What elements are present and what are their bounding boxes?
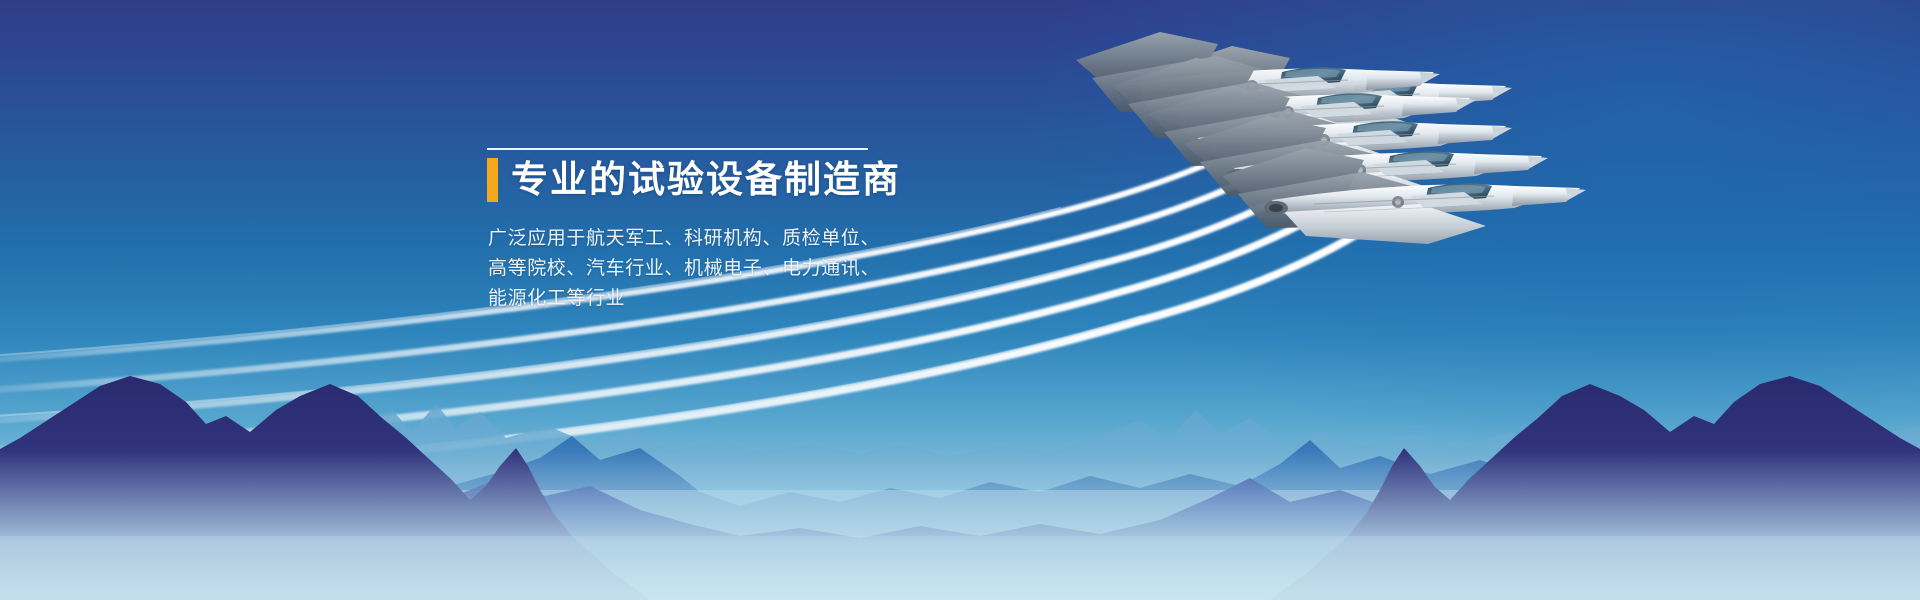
hero-banner: 专业的试验设备制造商 广泛应用于航天军工、科研机构、质检单位、 高等院校、汽车行…	[0, 0, 1920, 600]
subtitle-line-1: 广泛应用于航天军工、科研机构、质检单位、	[488, 223, 917, 253]
headline-row: 专业的试验设备制造商	[487, 157, 917, 203]
subtitle-block: 广泛应用于航天军工、科研机构、质检单位、 高等院校、汽车行业、机械电子、电力通讯…	[488, 223, 917, 313]
subtitle-line-3: 能源化工等行业	[488, 283, 917, 313]
hero-text-block: 专业的试验设备制造商 广泛应用于航天军工、科研机构、质检单位、 高等院校、汽车行…	[487, 148, 917, 313]
page-title: 专业的试验设备制造商	[511, 158, 901, 202]
subtitle-line-2: 高等院校、汽车行业、机械电子、电力通讯、	[488, 253, 917, 283]
fighter-jet-formation	[1140, 40, 1840, 310]
mountain-range-silhouettes	[0, 340, 1920, 600]
divider-rule	[487, 148, 868, 150]
accent-bar	[487, 158, 498, 202]
